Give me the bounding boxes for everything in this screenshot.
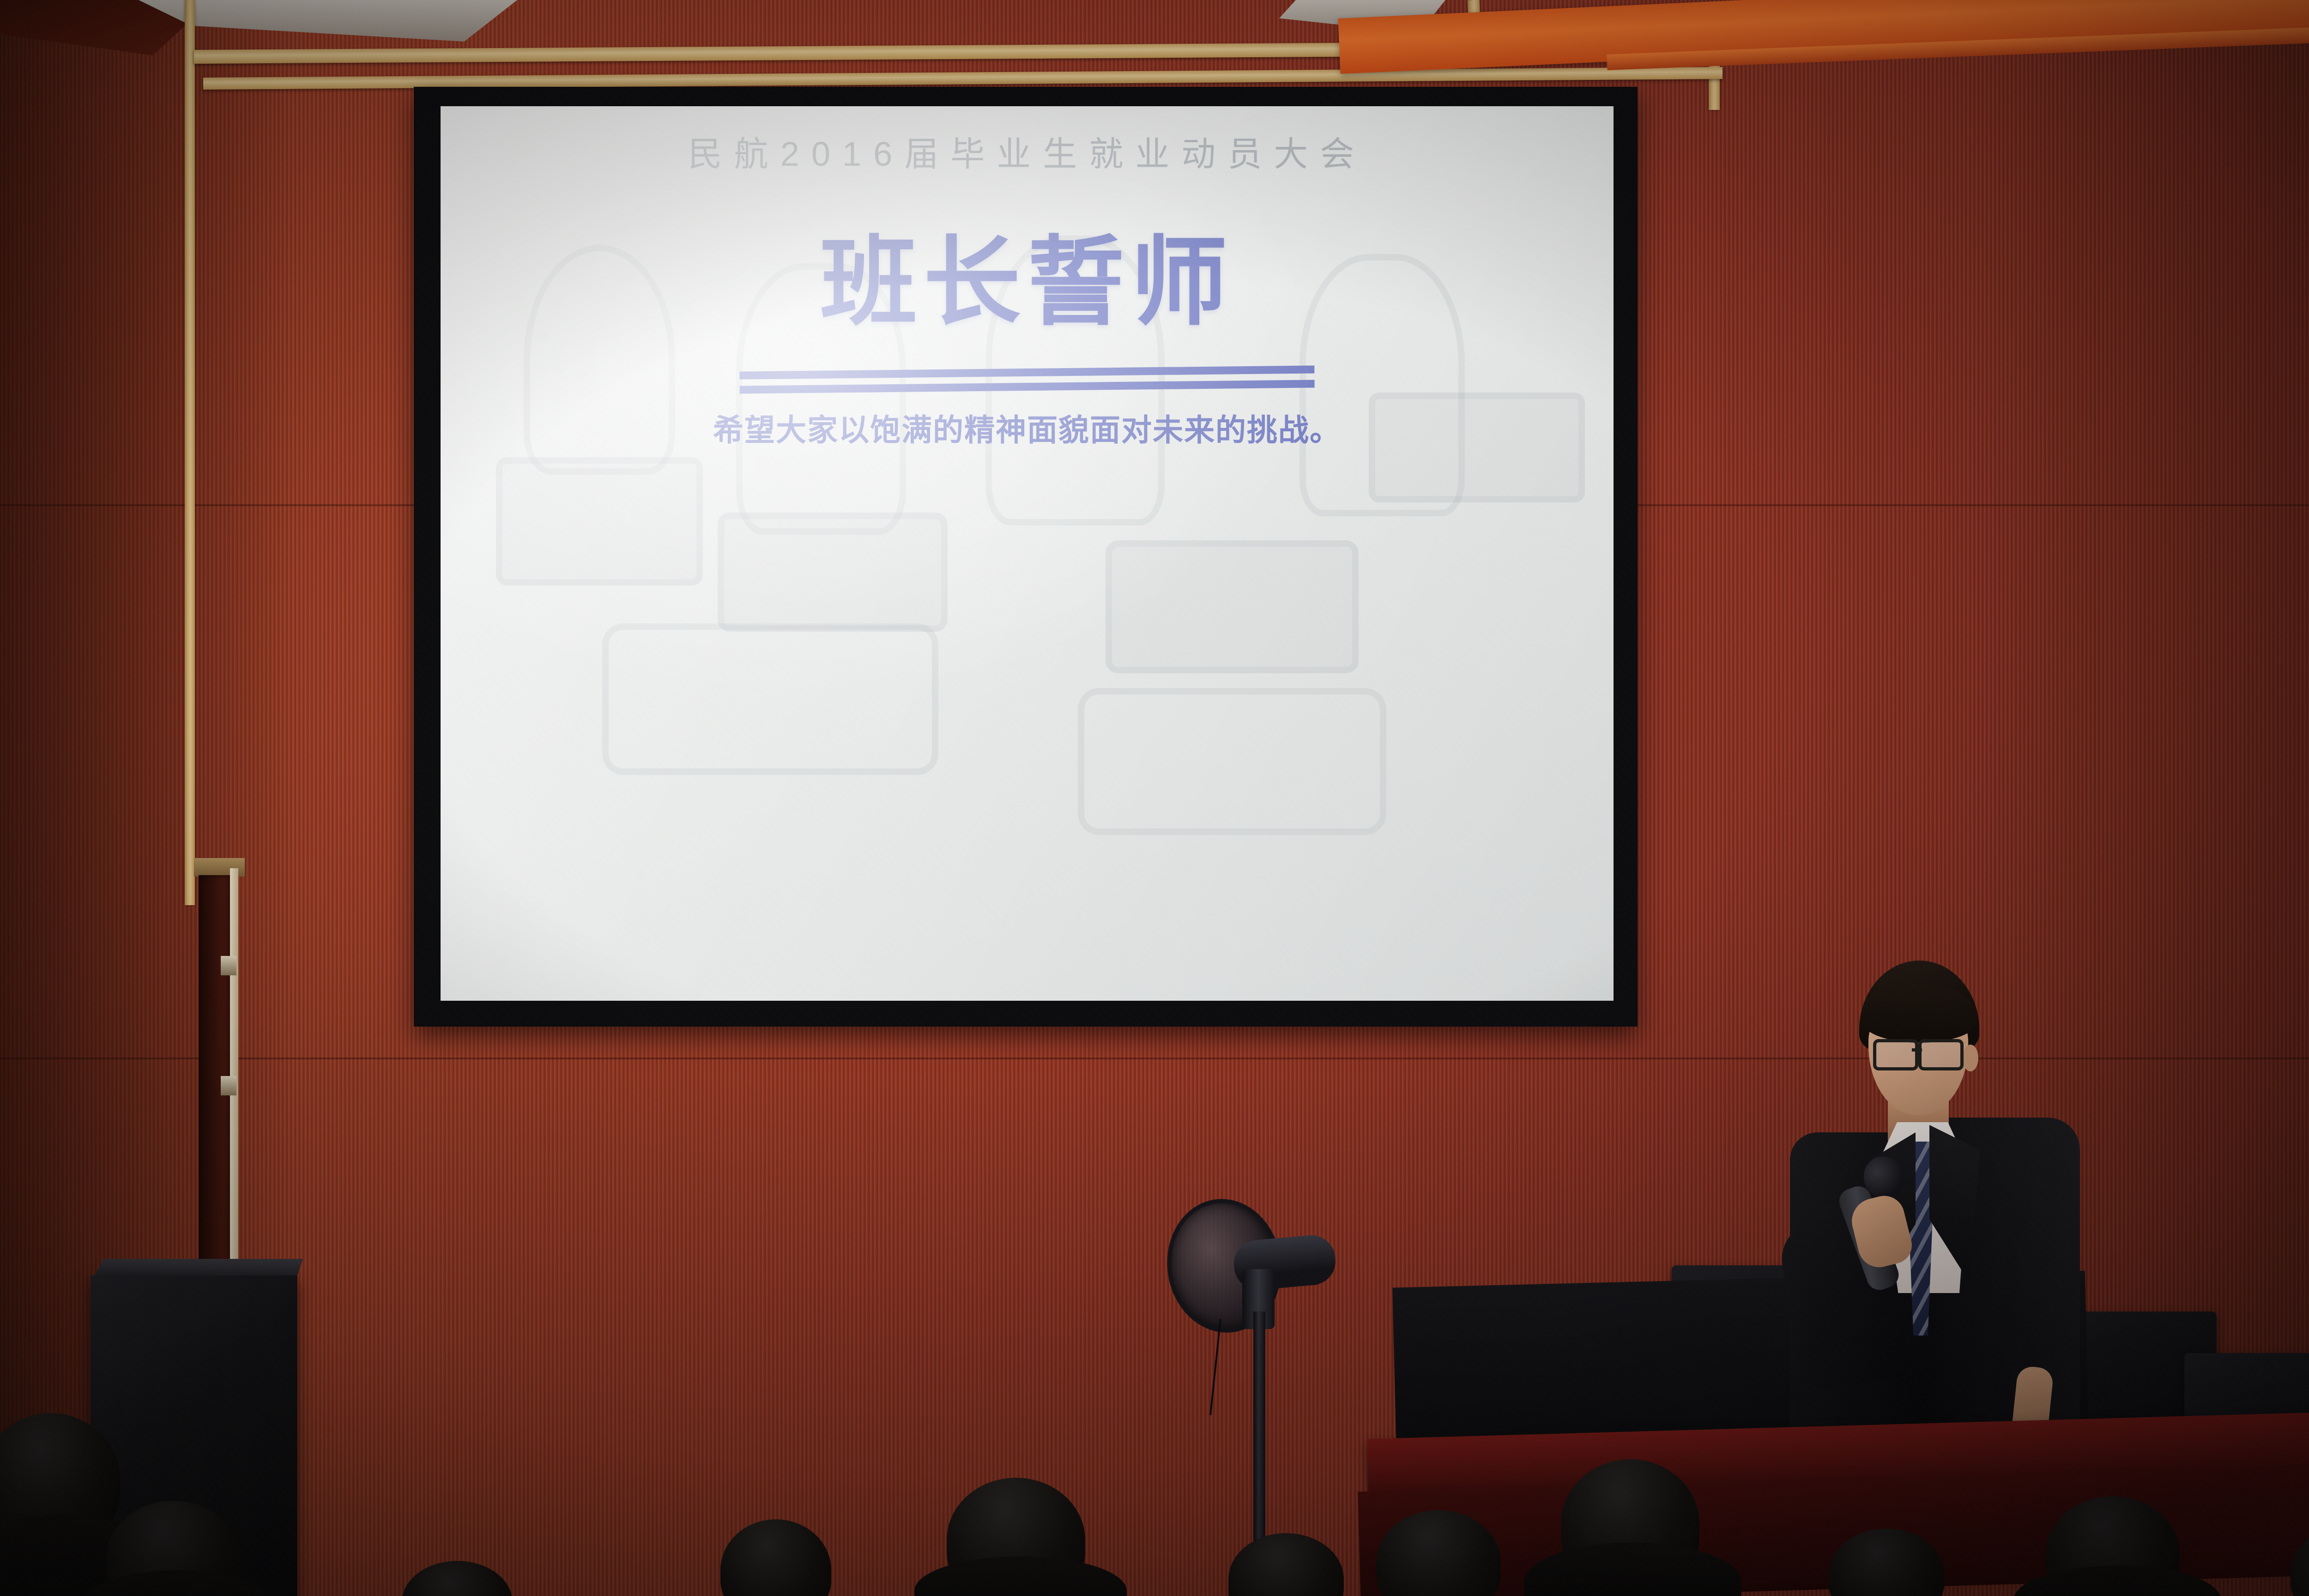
ghost-shape (1078, 688, 1386, 835)
eyeglasses-lens-left (1873, 1039, 1918, 1070)
door-hinge (221, 1076, 236, 1095)
ghost-shape (496, 457, 703, 586)
projection-screen-frame: 民航2016届毕业生就业动员大会 班长誓师 希望大家以饱满的精神面貌面对未来的挑… (414, 87, 1638, 1027)
wall-trim-vertical (185, 0, 195, 905)
slide-subtitle: 希望大家以饱满的精神面貌面对未来的挑战。 (441, 405, 1614, 450)
ghost-shape (602, 623, 938, 775)
projection-screen-surface: 民航2016届毕业生就业动员大会 班长誓师 希望大家以饱满的精神面貌面对未来的挑… (441, 106, 1614, 1001)
ear (1963, 1045, 1978, 1071)
slide-header-text: 民航2016届毕业生就业动员大会 (441, 127, 1614, 176)
slide-title: 班长誓师 (441, 232, 1614, 334)
eyeglasses-bridge (1912, 1048, 1922, 1052)
ghost-shape (1106, 540, 1359, 673)
hair-fringe (1862, 985, 1977, 1043)
eyeglasses-lens-right (1918, 1039, 1964, 1070)
photo-scene: 民航2016届毕业生就业动员大会 班长誓师 希望大家以饱满的精神面貌面对未来的挑… (0, 0, 2309, 1596)
ghost-shape (718, 513, 948, 632)
door-hinge (221, 956, 236, 975)
